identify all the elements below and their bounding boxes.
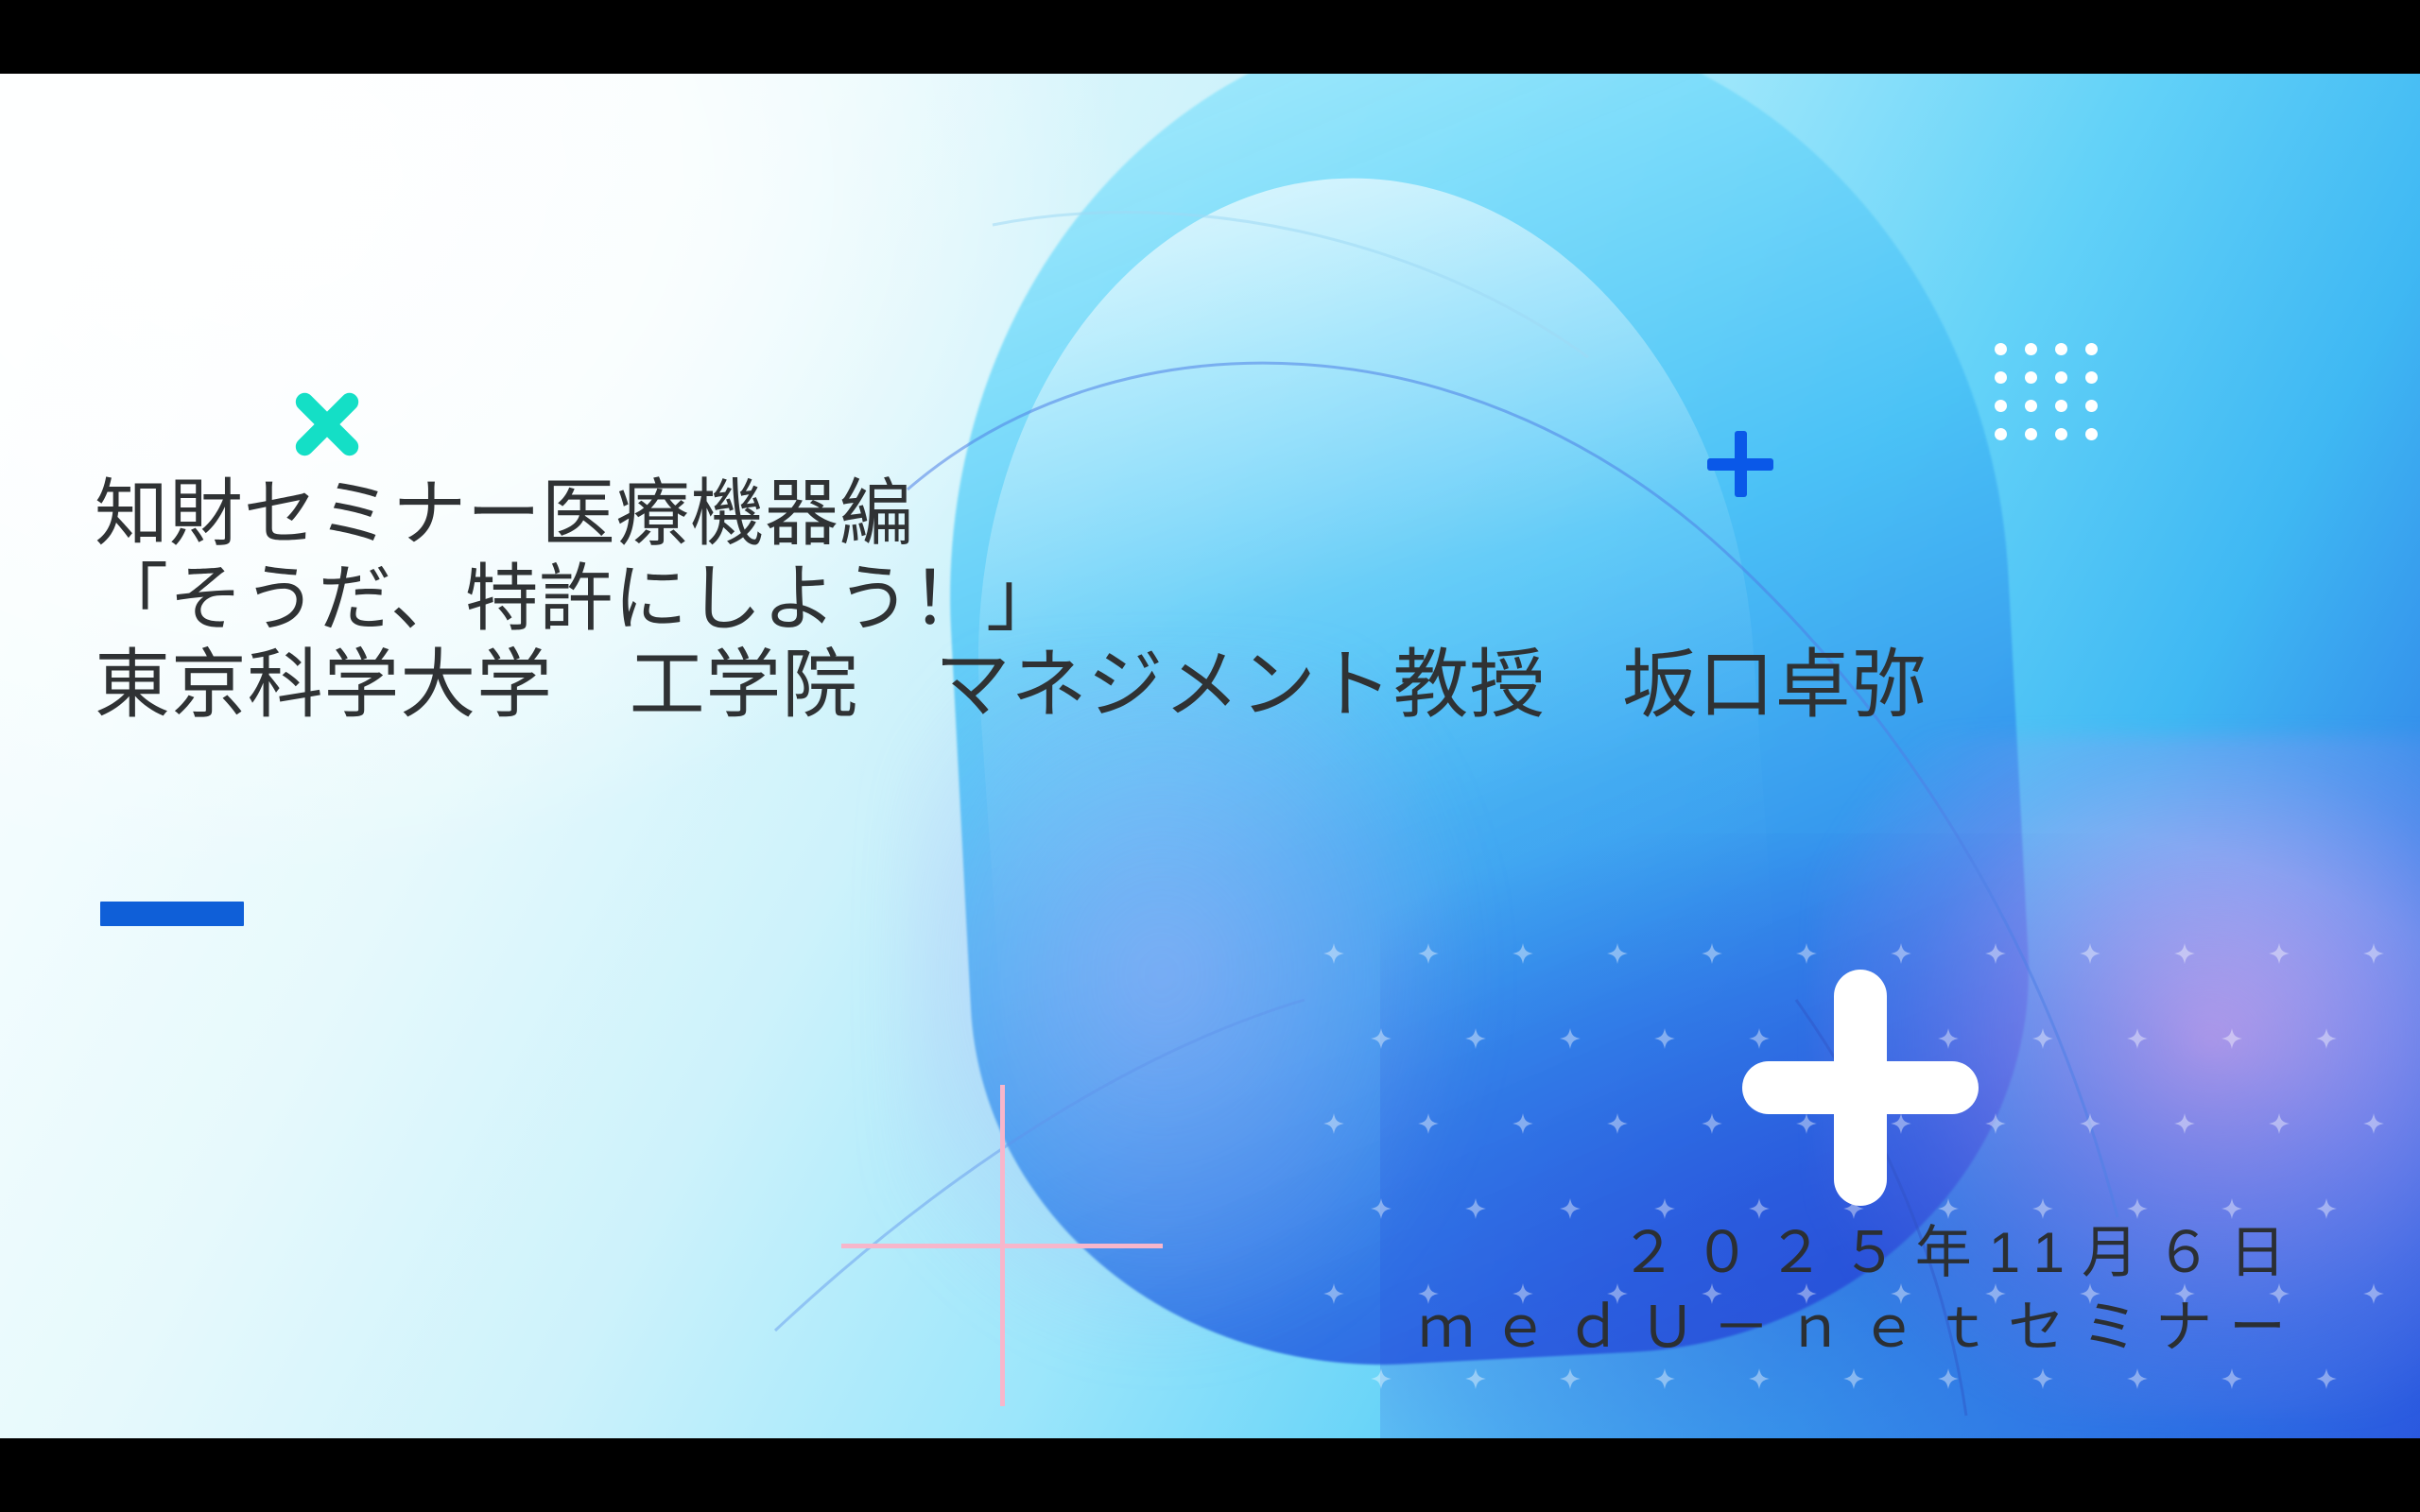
slide-event-name: ｍｅｄＵ－ｎｅｔセミナー <box>1418 1290 2303 1365</box>
slide-date: ２０２５年11月６日 <box>1418 1215 2303 1290</box>
plus-large-icon <box>1742 970 1979 1206</box>
text-cursor-highlight[interactable] <box>100 902 244 926</box>
slide-footer-block[interactable]: ２０２５年11月６日 ｍｅｄＵ－ｎｅｔセミナー <box>1418 1215 2303 1365</box>
crosshair-icon <box>841 1085 1163 1406</box>
slide-title-line-2: 「そうだ、特許にしよう！」 <box>95 556 1927 641</box>
slide-title-line-1: 知財セミナー医療機器編 <box>95 471 1927 556</box>
presentation-slide: 知財セミナー医療機器編 「そうだ、特許にしよう！」 東京科学大学 工学院 マネジ… <box>0 74 2420 1438</box>
dot-grid-icon <box>1995 343 2099 438</box>
slide-title-block[interactable]: 知財セミナー医療機器編 「そうだ、特許にしよう！」 東京科学大学 工学院 マネジ… <box>95 471 1927 730</box>
x-mark-icon <box>284 381 371 468</box>
slide-viewer: 知財セミナー医療機器編 「そうだ、特許にしよう！」 東京科学大学 工学院 マネジ… <box>0 0 2420 1512</box>
slide-title-line-3: 東京科学大学 工学院 マネジメント教授 坂口卓弥 <box>95 642 1927 730</box>
letterbox-top <box>0 0 2420 74</box>
letterbox-bottom <box>0 1438 2420 1512</box>
